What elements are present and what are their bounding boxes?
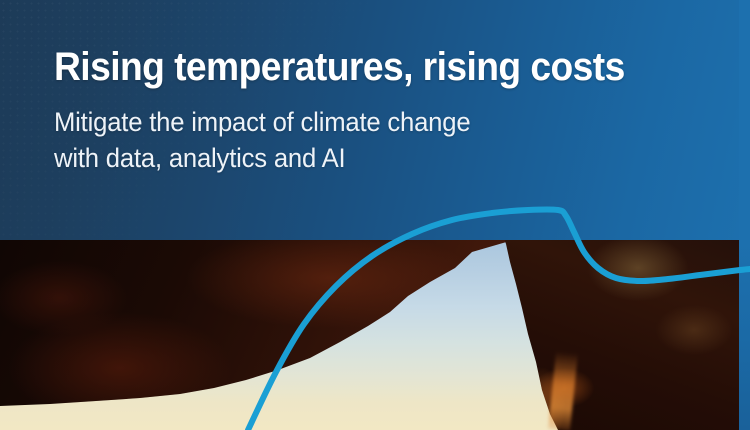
page-subtitle-line-2: with data, analytics and AI [54,140,681,176]
hero-text-block: Rising temperatures, rising costs Mitiga… [54,44,714,176]
hero-banner: Rising temperatures, rising costs Mitiga… [0,0,750,430]
page-subtitle-line-1: Mitigate the impact of climate change [54,104,681,140]
page-subtitle: Mitigate the impact of climate change wi… [54,104,681,176]
right-edge-strip [739,0,750,430]
page-title: Rising temperatures, rising costs [54,44,668,90]
